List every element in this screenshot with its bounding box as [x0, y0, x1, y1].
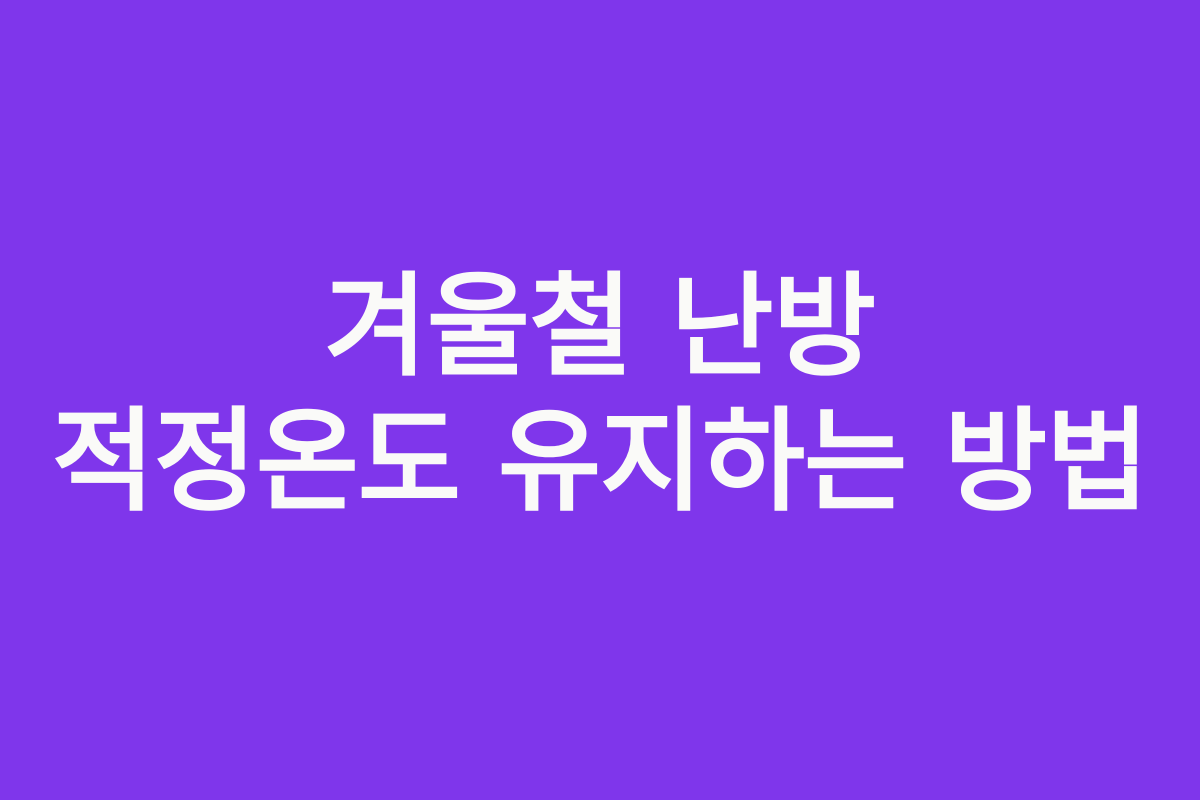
title-line-2: 적정온도 유지하는 방법 — [8, 395, 1192, 530]
title-line-1: 겨울철 난방 — [8, 260, 1192, 395]
banner-background: 겨울철 난방 적정온도 유지하는 방법 — [0, 0, 1200, 800]
title-block: 겨울철 난방 적정온도 유지하는 방법 — [0, 260, 1200, 530]
